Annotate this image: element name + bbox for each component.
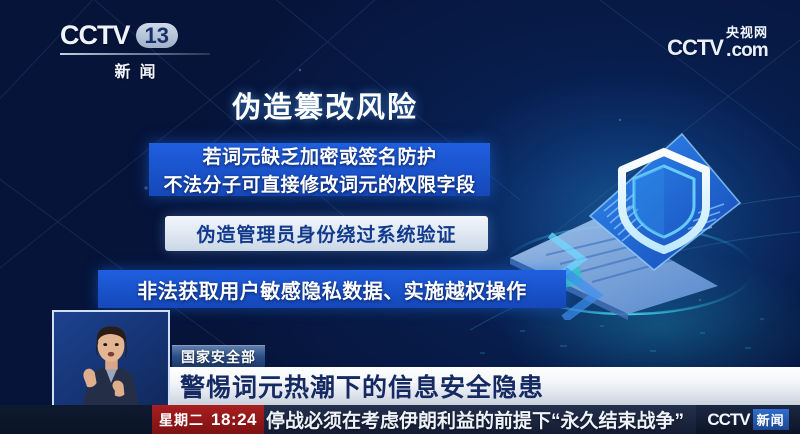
cctv13-logo: CCTV 13 新闻 [60, 20, 230, 80]
broadcast-frame: CCTV 13 新闻 CCTV 央视网 . com 伪造篡改风险 若词元缺乏加密… [0, 0, 800, 434]
cctv-com-cn: 央视网 [726, 26, 768, 40]
bullet-line-1: 若词元缺乏加密或签名防护 [202, 142, 436, 169]
bullet-line-2: 不法分子可直接修改词元的权限字段 [163, 170, 475, 197]
ticker-clock: 18:24 [211, 410, 257, 430]
bullet-line-3: 伪造管理员身份绕过系统验证 [196, 220, 456, 247]
channel-number: 13 [136, 23, 178, 48]
logo-underline [60, 53, 210, 55]
ticker-scroll-area: 停战必须在考虑伊朗利益的前提下“永久结束战争” [264, 405, 696, 434]
news-ticker: 星期二 18:24 停战必须在考虑伊朗利益的前提下“永久结束战争” CCTV 新… [0, 405, 800, 434]
ticker-brand-sub: 新闻 [753, 409, 789, 430]
bullet-line-4: 非法获取用户敏感隐私数据、实施越权操作 [137, 275, 527, 304]
ticker-weekday: 星期二 [159, 410, 204, 430]
ticker-brand: CCTV 新闻 [696, 405, 800, 434]
ticker-text: 停战必须在考虑伊朗利益的前提下“永久结束战争” [266, 406, 684, 433]
ticker-brand-mark: CCTV [707, 410, 749, 430]
ticker-lead-spacer [0, 405, 152, 434]
news-anchor-figure [54, 312, 168, 405]
bullet-bar-wide: 非法获取用户敏感隐私数据、实施越权操作 [98, 270, 566, 308]
headline-bar: 警惕词元热潮下的信息安全隐患 [170, 367, 800, 405]
cctv-wordmark: CCTV [60, 20, 130, 51]
slide-title: 伪造篡改风险 [232, 84, 418, 126]
bullet-bar-light: 伪造管理员身份绕过系统验证 [165, 216, 488, 251]
channel-name-cn: 新闻 [60, 58, 210, 82]
bullet-bar-primary: 若词元缺乏加密或签名防护 不法分子可直接修改词元的权限字段 [149, 143, 490, 196]
agency-label: 国家安全部 [181, 347, 256, 367]
agency-tag: 国家安全部 [172, 345, 265, 367]
anchor-pip [52, 310, 170, 407]
cctv-com-logo: CCTV 央视网 . com [667, 26, 768, 61]
cctv-com-wordmark: CCTV [667, 35, 723, 61]
cctv-com-tld: com [732, 41, 768, 61]
ticker-time-box: 星期二 18:24 [152, 405, 264, 434]
headline-text: 警惕词元热潮下的信息安全隐患 [170, 368, 544, 404]
